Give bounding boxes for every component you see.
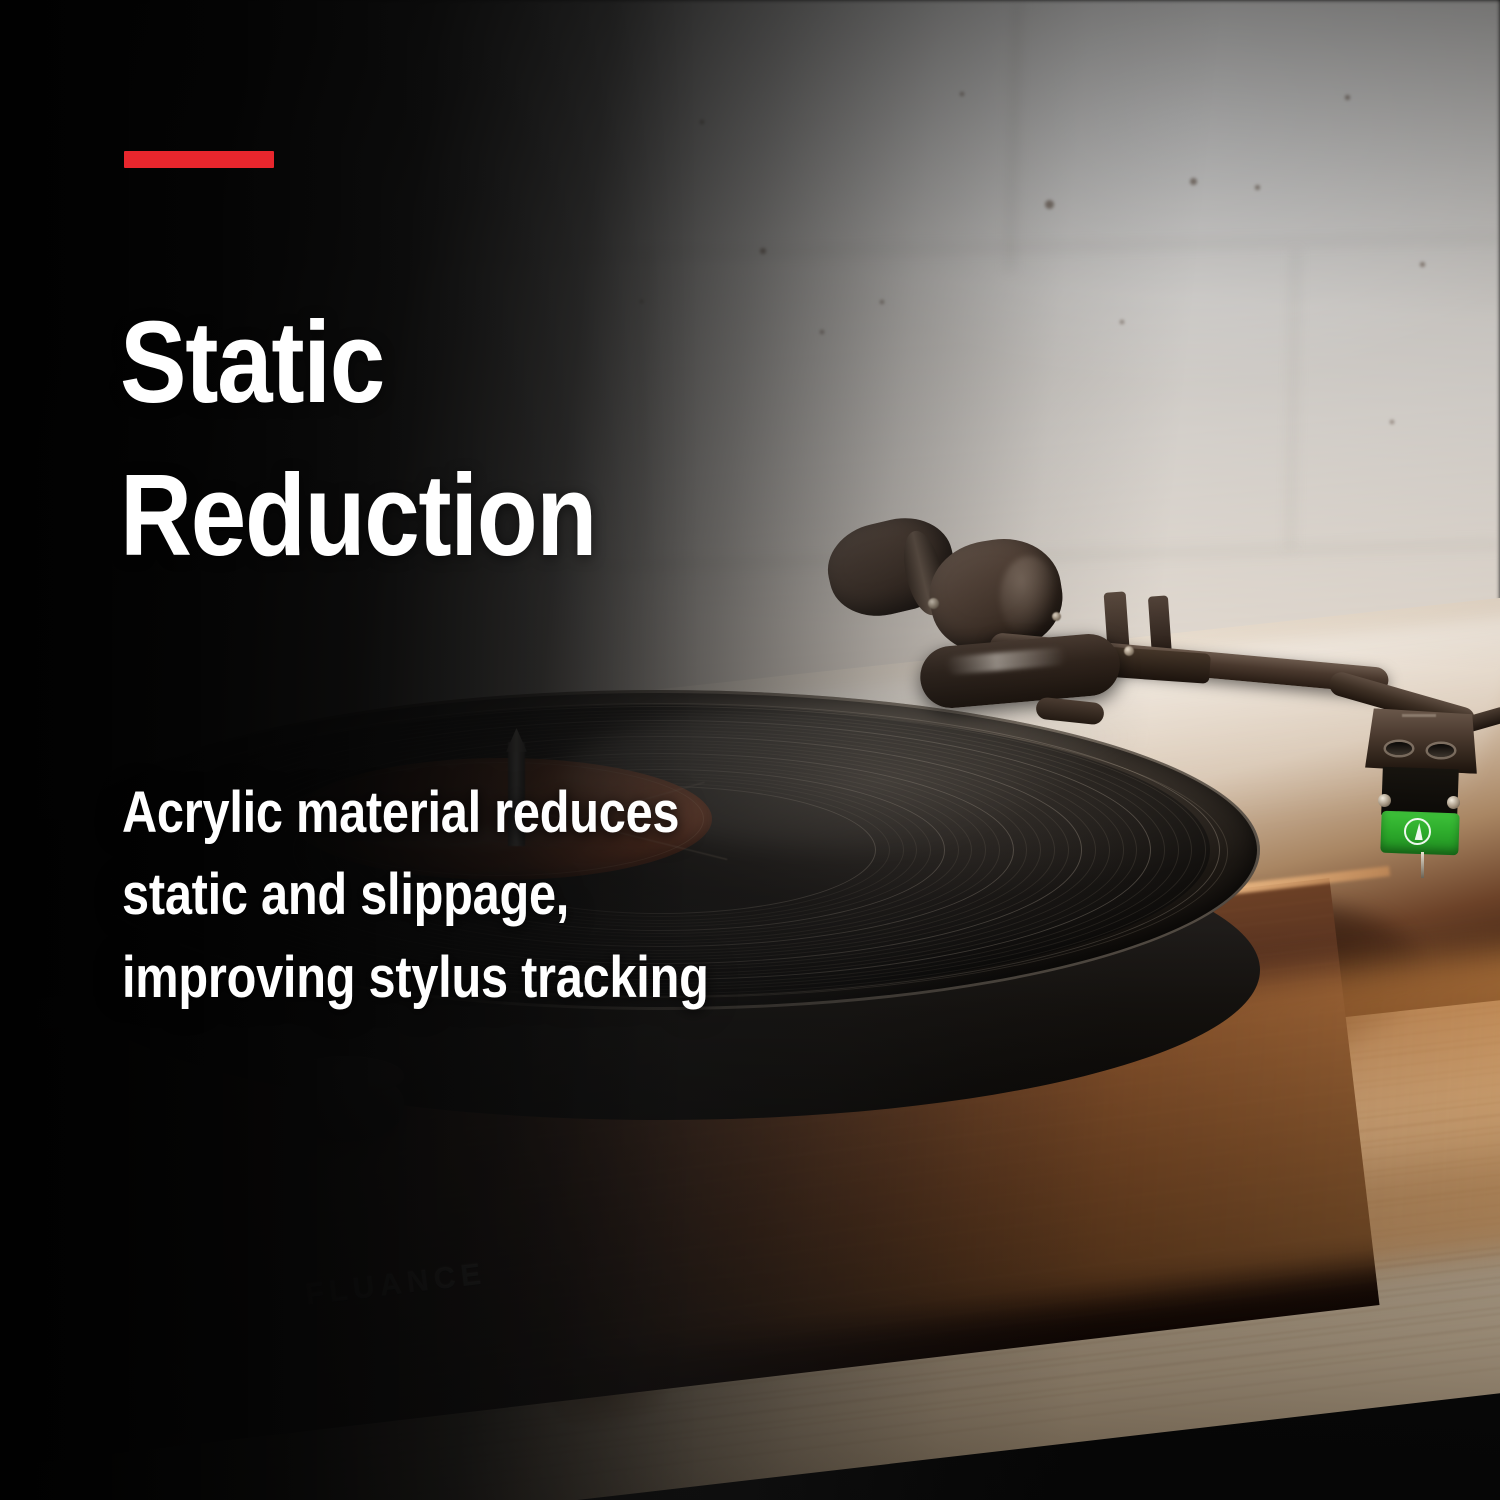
marketing-banner: FLUANCE Static Reduction Acrylic materia… [0,0,1500,1500]
red-accent-bar [124,151,274,168]
page-title: Static Reduction [120,286,894,592]
feature-description: Acrylic material reduces static and slip… [122,772,979,1019]
text-overlay: Static Reduction Acrylic material reduce… [0,0,1500,1500]
